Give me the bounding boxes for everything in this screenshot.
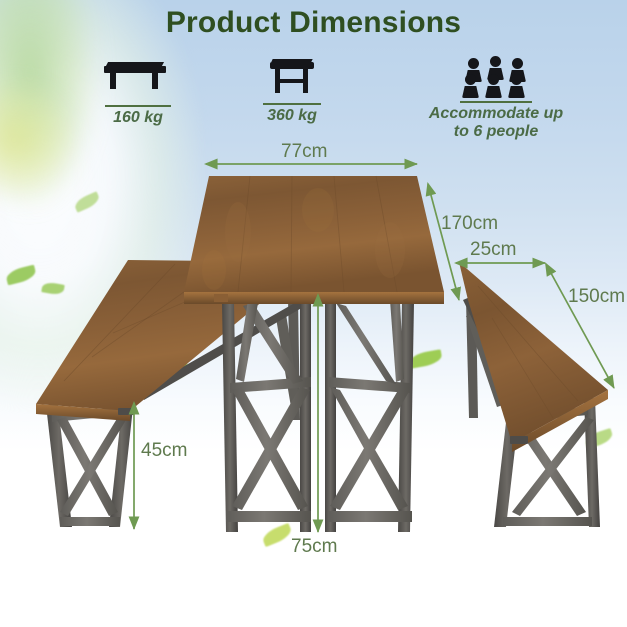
spec-table-capacity: 160 kg — [72, 60, 204, 127]
person-head — [511, 74, 522, 85]
person-body — [485, 86, 502, 98]
dimension-label-table-length: 170cm — [441, 213, 498, 235]
table-icon-leg — [152, 73, 158, 89]
person-head — [465, 74, 476, 85]
table-icon — [104, 60, 172, 102]
table-icon-top — [104, 66, 166, 73]
dimension-label-bench-width: 25cm — [470, 239, 516, 261]
person-body — [462, 86, 479, 98]
person-head — [490, 56, 501, 67]
person-head — [512, 58, 523, 69]
person-body — [508, 86, 525, 98]
person-head — [468, 58, 479, 69]
dimension-label-table-width: 77cm — [281, 141, 327, 163]
dimension-label-bench-length: 150cm — [568, 286, 625, 308]
spec-label-seating-line1: Accommodate up — [406, 105, 586, 123]
spec-label-bench-capacity: 360 kg — [232, 107, 352, 125]
bench-icon-rail — [275, 79, 306, 83]
dimension-label-table-height: 75cm — [291, 536, 337, 558]
person-icon — [462, 74, 479, 98]
person-head — [488, 74, 499, 85]
spec-underline — [263, 103, 321, 105]
spec-label-table-capacity: 160 kg — [72, 109, 204, 127]
bench-icon-seat — [270, 62, 314, 69]
person-icon — [508, 74, 525, 98]
spec-label-seating-line2: to 6 people — [406, 123, 586, 141]
bench-icon — [268, 58, 316, 100]
dimension-label-bench-height: 45cm — [141, 440, 187, 462]
spec-underline — [460, 101, 532, 103]
spec-underline — [105, 105, 171, 107]
six-people-icon — [463, 56, 529, 100]
background-yellow-blur — [0, 80, 74, 200]
page-title: Product Dimensions — [0, 6, 627, 40]
spec-seating-capacity: Accommodate up to 6 people — [406, 56, 586, 141]
person-icon — [485, 74, 502, 98]
table-icon-leg — [110, 73, 116, 89]
infographic-canvas: Product Dimensions 160 kg 360 kg — [0, 0, 627, 627]
spec-bench-capacity: 360 kg — [232, 58, 352, 125]
